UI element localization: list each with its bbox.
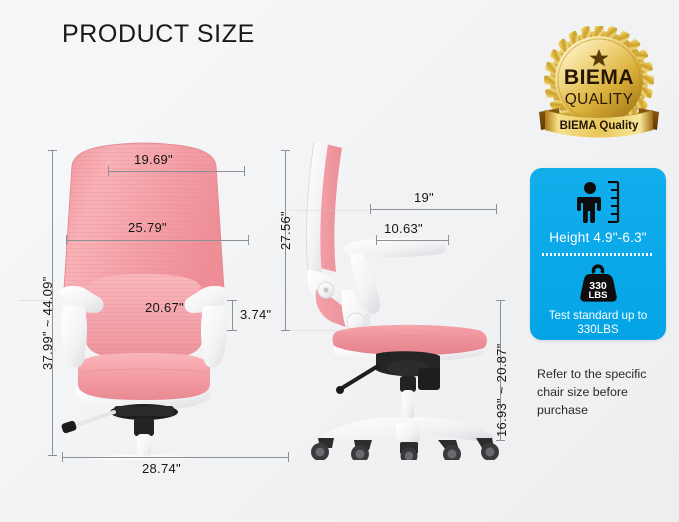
dim-tick-left <box>370 204 371 214</box>
biema-quality-seal: BIEMA QUALITY BIEMA Quality <box>533 26 665 144</box>
height-ruler-icon <box>606 181 620 223</box>
dim-tick-left <box>108 166 109 176</box>
dim-tick-top <box>48 150 57 151</box>
dim-tick-bottom <box>48 455 57 456</box>
extension-guide <box>290 210 370 211</box>
dim-seat-width: 20.67" <box>145 300 184 315</box>
dim-tick-right <box>496 204 497 214</box>
extension-guide <box>20 300 54 301</box>
dim-tick-right <box>244 166 245 176</box>
extension-guide <box>290 330 350 331</box>
dim-tick-left <box>66 235 67 245</box>
dim-seat-depth: 19" <box>414 190 434 205</box>
dim-line-base-width <box>62 457 288 458</box>
height-range-label: Height 4.9"-6.3" <box>549 230 647 245</box>
dim-tick-right <box>288 452 289 462</box>
side-view-chair <box>290 140 510 460</box>
weight-330lbs-icon: 330 LBS <box>576 264 620 304</box>
seal-line1: BIEMA <box>564 66 634 89</box>
purchase-note: Refer to the specific chair size before … <box>537 366 669 420</box>
person-height-icon <box>577 179 620 223</box>
dim-line-armrest-length <box>376 240 448 241</box>
dim-seat-thickness: 3.74" <box>240 307 271 322</box>
page-title: PRODUCT SIZE <box>62 20 255 49</box>
weight-unit: LBS <box>589 290 608 301</box>
specs-info-panel: Height 4.9"-6.3" 330 LBS Test standard u… <box>530 168 666 340</box>
dim-backrest-width: 25.79" <box>128 220 167 235</box>
dim-tick-right <box>248 235 249 245</box>
seal-ribbon-text: BIEMA Quality <box>560 120 639 132</box>
dim-tick-right <box>448 235 449 245</box>
dim-tick-left <box>62 452 63 462</box>
dim-tick-top <box>227 300 237 301</box>
dim-tick-bottom <box>496 440 505 441</box>
dim-tick-left <box>376 235 377 245</box>
product-size-infographic: PRODUCT SIZE <box>0 0 679 522</box>
dim-tick-top <box>281 150 290 151</box>
dim-tick-bottom <box>281 330 290 331</box>
weight-icon-graphic: 330 LBS <box>576 264 620 304</box>
dim-seat-height-range: 16.93" ~ 20.87" <box>494 343 509 437</box>
dim-backrest-top-width: 19.69" <box>134 152 173 167</box>
seal-graphic: BIEMA QUALITY BIEMA Quality <box>533 26 665 144</box>
dim-line-seat-depth <box>370 209 496 210</box>
dim-armrest-length: 10.63" <box>384 221 423 236</box>
dim-line-backrest-top-width <box>108 171 244 172</box>
dim-tick-top <box>496 300 505 301</box>
dim-line-backrest-width <box>66 240 248 241</box>
panel-divider <box>542 253 654 256</box>
person-silhouette-icon <box>577 181 603 223</box>
test-standard-label: Test standard up to 330LBS <box>535 309 661 338</box>
dim-backrest-height: 27.56" <box>278 211 293 250</box>
seal-line2: QUALITY <box>565 91 633 108</box>
dim-base-width: 28.74" <box>142 461 181 476</box>
dim-tick-bottom <box>227 330 237 331</box>
dim-line-seat-thickness <box>232 300 233 330</box>
dim-overall-height: 37.99" ~ 44.09" <box>40 276 55 370</box>
